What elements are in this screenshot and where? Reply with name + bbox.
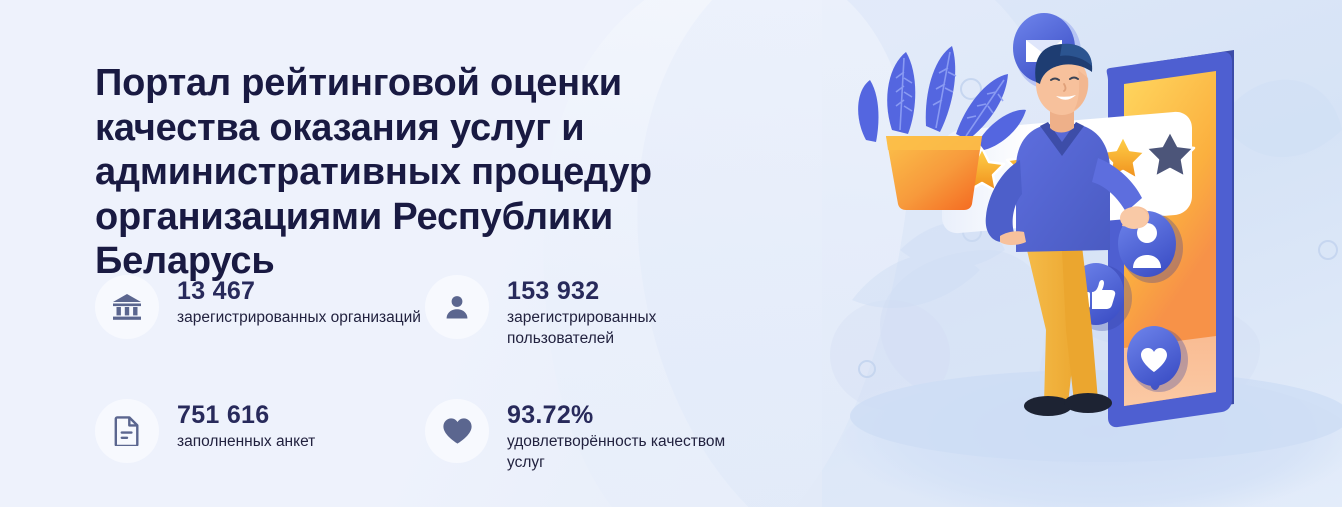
- stat-label: удовлетворённость качеством услуг: [507, 432, 755, 473]
- stat-text: 93.72% удовлетворённость качеством услуг: [507, 399, 755, 473]
- stat-text: 13 467 зарегистрированных организаций: [177, 275, 421, 329]
- page-title: Портал рейтинговой оценки качества оказа…: [95, 61, 795, 283]
- stat-value: 153 932: [507, 277, 755, 305]
- stat-item-forms: 751 616 заполненных анкет: [95, 399, 425, 473]
- stat-item-satisfaction: 93.72% удовлетворённость качеством услуг: [425, 399, 755, 473]
- stat-value: 93.72%: [507, 401, 755, 429]
- heart-icon: [425, 399, 489, 463]
- stat-item-users: 153 932 зарегистрированных пользователей: [425, 275, 755, 349]
- hero-banner: Портал рейтинговой оценки качества оказа…: [0, 0, 1342, 507]
- document-icon: [95, 399, 159, 463]
- stat-text: 153 932 зарегистрированных пользователей: [507, 275, 755, 349]
- statistics-row-1: 13 467 зарегистрированных организаций 15…: [95, 275, 815, 349]
- stat-value: 751 616: [177, 401, 315, 429]
- user-icon: [425, 275, 489, 339]
- bank-icon: [95, 275, 159, 339]
- row-spacer: [95, 349, 815, 399]
- stat-label: зарегистрированных организаций: [177, 308, 421, 329]
- stat-label: заполненных анкет: [177, 432, 315, 453]
- stat-label: зарегистрированных пользователей: [507, 308, 755, 349]
- stat-text: 751 616 заполненных анкет: [177, 399, 315, 453]
- statistics-row-2: 751 616 заполненных анкет 93.72% удовлет…: [95, 399, 815, 473]
- stat-value: 13 467: [177, 277, 421, 305]
- man-rating-phone-illustration: [830, 0, 1342, 507]
- statistics-group: 13 467 зарегистрированных организаций 15…: [95, 275, 815, 473]
- stat-item-organizations: 13 467 зарегистрированных организаций: [95, 275, 425, 349]
